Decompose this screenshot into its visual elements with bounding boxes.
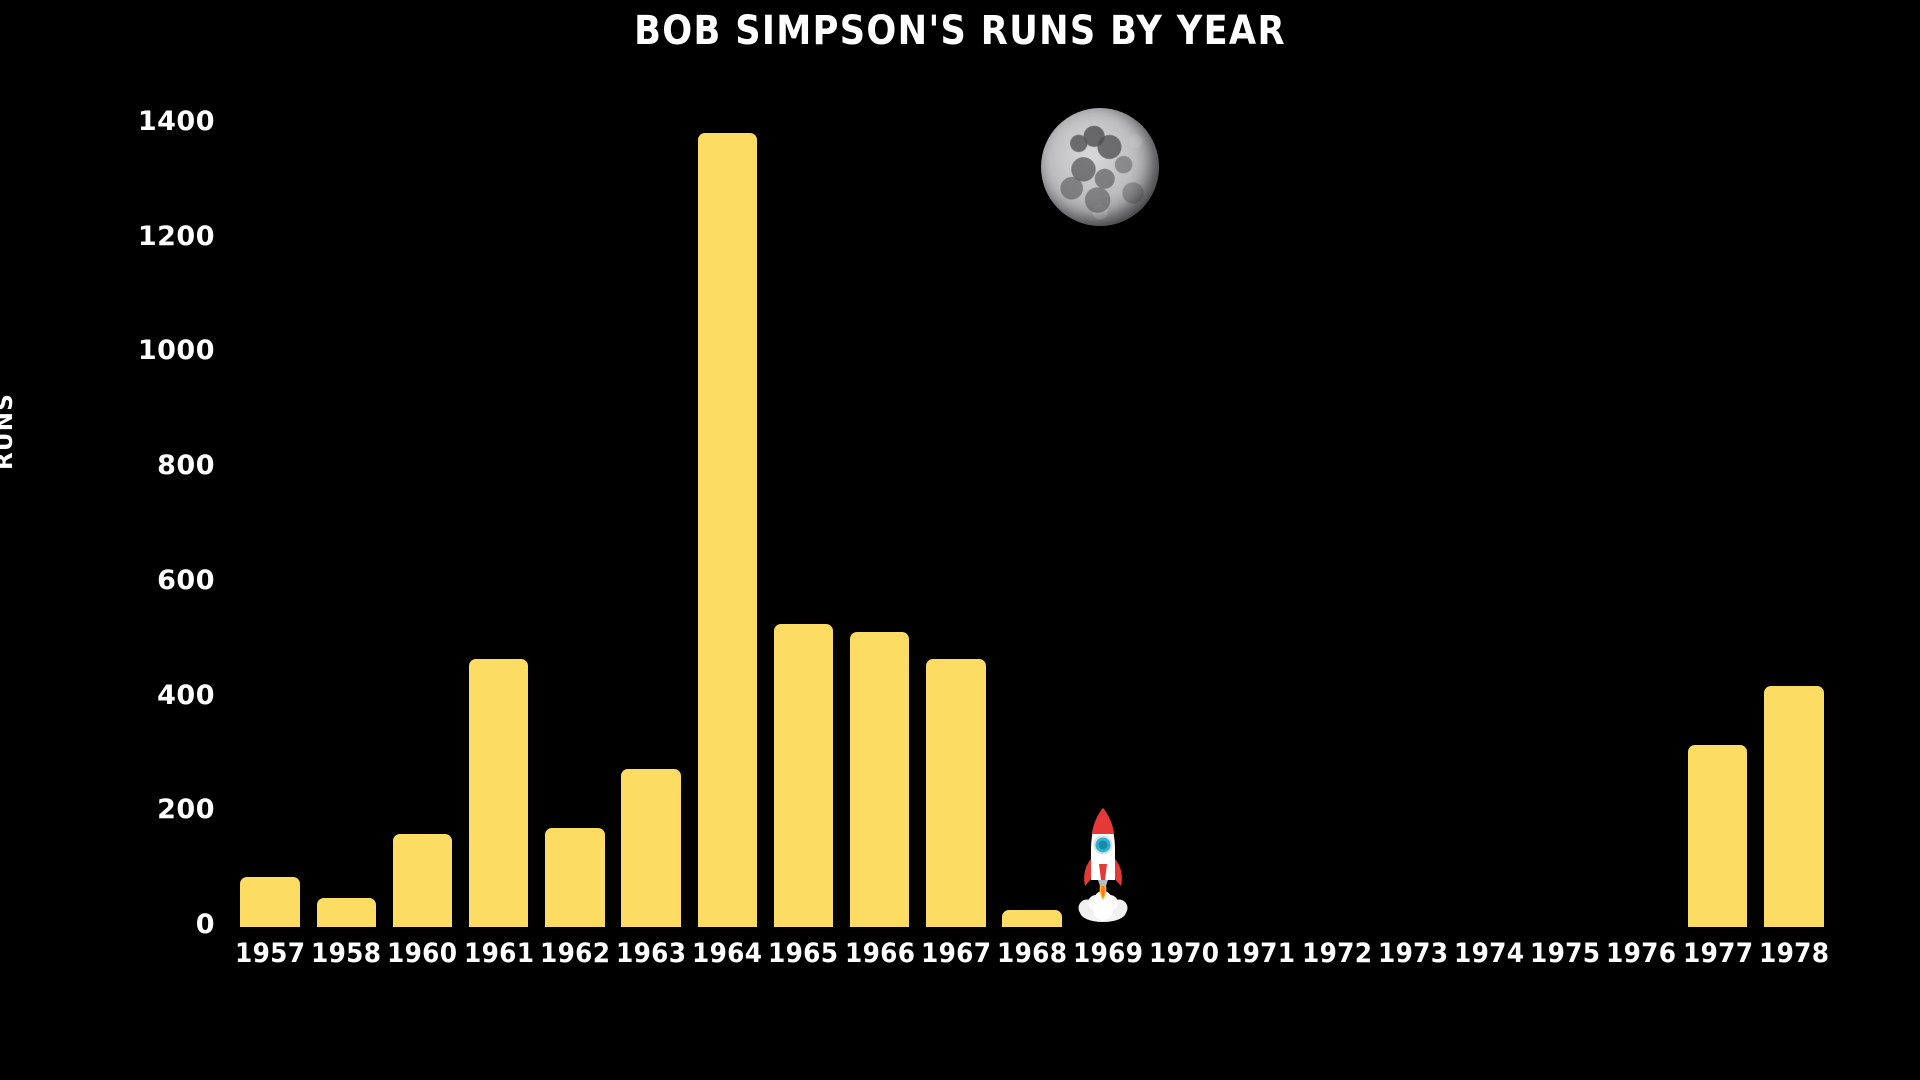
bar-slot[interactable] [240,0,299,927]
bar-slot[interactable] [1231,0,1290,927]
y-axis-tick-label: 600 [0,565,215,596]
rocket-icon [1078,800,1128,922]
x-axis-tick-label: 1972 [1302,938,1372,969]
bar-1966[interactable] [850,632,909,927]
bar-slot[interactable] [1155,0,1214,927]
bar-slot[interactable] [774,0,833,927]
x-axis-tick-label: 1961 [464,938,534,969]
bar-1963[interactable] [621,769,680,927]
x-axis-tick-label: 1968 [997,938,1067,969]
bar-slot[interactable] [698,0,757,927]
bar-slot[interactable] [926,0,985,927]
x-axis-tick-label: 1970 [1149,938,1219,969]
x-axis-tick-label: 1964 [692,938,762,969]
bar-1960[interactable] [393,834,452,927]
y-axis-tick-label: 200 [0,794,215,825]
bar-slot[interactable] [317,0,376,927]
bar-1964[interactable] [698,133,757,927]
chart-root: BOB SIMPSON'S RUNS BY YEAR RUNS 14001200… [0,0,1920,1080]
x-axis-tick-label: 1969 [1073,938,1143,969]
bar-1961[interactable] [469,659,528,927]
x-axis-tick-label: 1957 [235,938,305,969]
x-axis-ticks: 1957195819601961196219631964196519661967… [232,938,1832,978]
bar-1962[interactable] [545,828,604,927]
bar-slot[interactable] [469,0,528,927]
bar-slot[interactable] [621,0,680,927]
x-axis-tick-label: 1978 [1759,938,1829,969]
bar-1978[interactable] [1764,686,1823,927]
bar-1967[interactable] [926,659,985,927]
x-axis-tick-label: 1971 [1226,938,1296,969]
x-axis-tick-label: 1962 [540,938,610,969]
bar-1968[interactable] [1002,910,1061,927]
x-axis-tick-label: 1977 [1683,938,1753,969]
bar-slot[interactable] [1612,0,1671,927]
x-axis-tick-label: 1967 [921,938,991,969]
x-axis-tick-label: 1976 [1606,938,1676,969]
bar-1958[interactable] [317,898,376,927]
bar-slot[interactable] [1764,0,1823,927]
x-axis-tick-label: 1966 [845,938,915,969]
bar-slot[interactable] [1383,0,1442,927]
bar-1965[interactable] [774,624,833,927]
bar-series [232,0,1832,927]
x-axis-tick-label: 1958 [311,938,381,969]
y-axis-tick-label: 1000 [0,335,215,366]
bar-1977[interactable] [1688,745,1747,927]
bar-slot[interactable] [545,0,604,927]
y-axis-tick-label: 400 [0,680,215,711]
y-axis-tick-label: 1200 [0,221,215,252]
bar-slot[interactable] [1536,0,1595,927]
bar-slot[interactable] [1459,0,1518,927]
x-axis-tick-label: 1973 [1378,938,1448,969]
y-axis-tick-label: 1400 [0,106,215,137]
bar-slot[interactable] [1688,0,1747,927]
x-axis-tick-label: 1965 [768,938,838,969]
bar-slot[interactable] [393,0,452,927]
x-axis-tick-label: 1975 [1530,938,1600,969]
x-axis-tick-label: 1963 [616,938,686,969]
moon-icon [1041,108,1159,226]
x-axis-tick-label: 1974 [1454,938,1524,969]
bar-1957[interactable] [240,877,299,927]
bar-slot[interactable] [1307,0,1366,927]
x-axis-tick-label: 1960 [387,938,457,969]
y-axis-tick-label: 0 [0,909,215,940]
y-axis-tick-label: 800 [0,450,215,481]
bar-slot[interactable] [850,0,909,927]
